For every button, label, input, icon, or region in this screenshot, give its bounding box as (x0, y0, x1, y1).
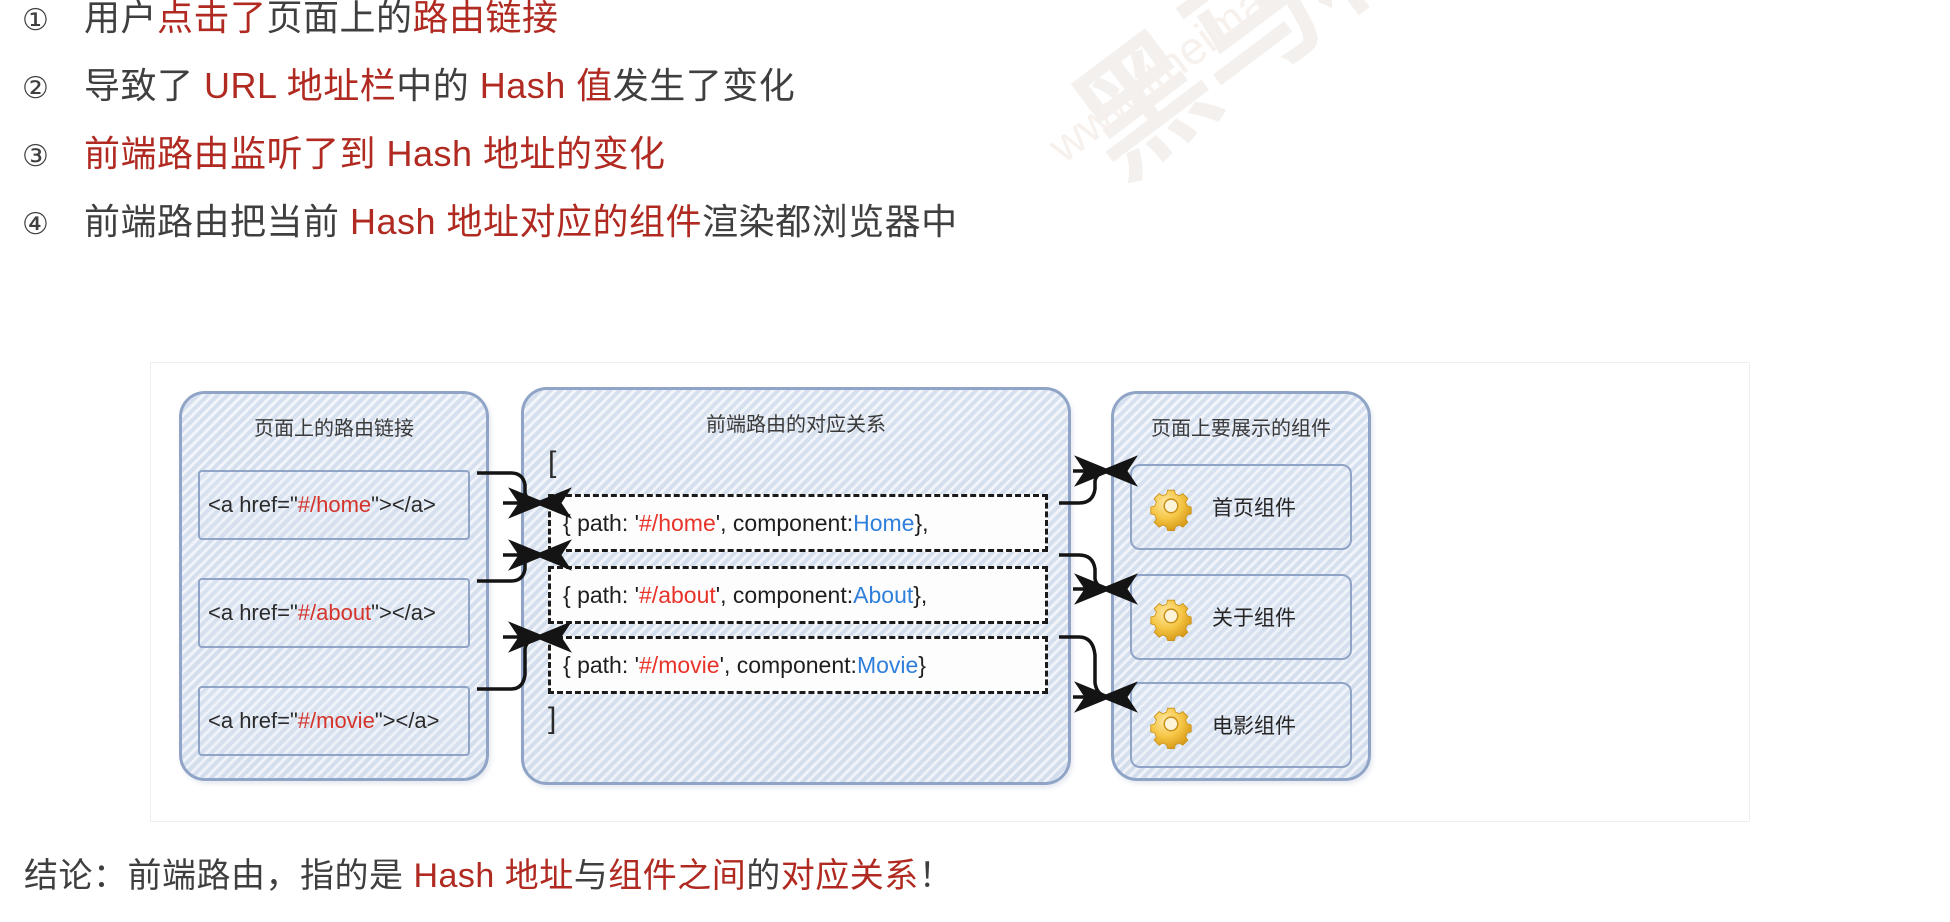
step-segment: 发生了变化 (613, 65, 796, 106)
step-label: 前端路由监听了到 Hash 地址的变化 (84, 136, 666, 172)
step-segment: Hash 值 (480, 65, 613, 106)
panel-route-table: 前端路由的对应关系 [ { path: '#/home', component:… (521, 387, 1071, 785)
route-link-prefix: <a href=" (208, 708, 298, 734)
step-number: ④ (22, 210, 84, 240)
conclusion-text: 结论：前端路由，指的是 Hash 地址与组件之间的对应关系！ (24, 848, 953, 897)
route-mid: ', component: (716, 510, 853, 537)
routing-diagram: 页面上的路由链接 <a href="#/home"></a> <a href="… (150, 362, 1750, 822)
step-segment: 路由链接 (413, 0, 559, 38)
route-link-box-home: <a href="#/home"></a> (198, 470, 470, 540)
step-item: ①用户点击了页面上的路由链接 (0, 0, 1500, 68)
route-open: { path: ' (563, 582, 639, 609)
step-number: ③ (22, 142, 84, 172)
panel-components: 页面上要展示的组件 首页组件 (1111, 391, 1371, 781)
component-label: 电影组件 (1212, 710, 1296, 740)
step-segment: 导致了 (84, 65, 204, 106)
step-segment: 前端路由监听了到 Hash 地址的变化 (84, 133, 666, 174)
panel-route-table-title: 前端路由的对应关系 (524, 408, 1068, 437)
route-entry-about: { path: '#/about', component: About }, (548, 566, 1048, 624)
conclusion-segment: 组件之间 (608, 857, 746, 895)
step-label: 导致了 URL 地址栏中的 Hash 值发生了变化 (84, 68, 795, 104)
step-segment: URL 地址栏 (204, 65, 396, 106)
step-segment: 前端路由把当前 (84, 201, 350, 242)
conclusion-segment: 与 (574, 857, 609, 895)
step-item: ④前端路由把当前 Hash 地址对应的组件渲染都浏览器中 (0, 204, 1500, 272)
step-number: ① (22, 6, 84, 36)
conclusion-segment: Hash 地址 (413, 857, 573, 895)
gear-icon (1142, 476, 1200, 539)
array-close-bracket: ] (548, 702, 556, 736)
route-link-prefix: <a href=" (208, 492, 298, 518)
step-item: ②导致了 URL 地址栏中的 Hash 值发生了变化 (0, 68, 1500, 136)
conclusion-segment: 的 (746, 857, 781, 895)
route-link-suffix: "></a> (371, 492, 436, 518)
component-box-about: 关于组件 (1130, 574, 1352, 660)
step-label: 用户点击了页面上的路由链接 (84, 0, 559, 36)
gear-icon (1142, 694, 1200, 757)
step-segment: 中的 (396, 65, 480, 106)
step-label: 前端路由把当前 Hash 地址对应的组件渲染都浏览器中 (84, 204, 958, 240)
step-segment: 渲染都浏览器中 (702, 201, 958, 242)
step-segment: 点击了 (157, 0, 267, 38)
route-path: #/movie (639, 652, 720, 679)
route-link-hash: #/about (298, 600, 371, 626)
route-close: } (918, 652, 926, 679)
conclusion-segment: ！ (919, 857, 954, 895)
route-link-hash: #/movie (298, 708, 375, 734)
route-open: { path: ' (563, 652, 639, 679)
route-link-box-about: <a href="#/about"></a> (198, 578, 470, 648)
route-link-suffix: "></a> (375, 708, 440, 734)
component-box-movie: 电影组件 (1130, 682, 1352, 768)
route-component: Home (853, 510, 914, 537)
conclusion-segment: 对应关系 (781, 857, 919, 895)
component-box-home: 首页组件 (1130, 464, 1352, 550)
component-label: 首页组件 (1212, 492, 1296, 522)
panel-components-title: 页面上要展示的组件 (1114, 412, 1368, 441)
route-mid: ', component: (720, 652, 857, 679)
route-entry-movie: { path: '#/movie', component: Movie } (548, 636, 1048, 694)
route-component: About (853, 582, 913, 609)
step-segment: Hash 地址对应的组件 (350, 201, 702, 242)
component-label: 关于组件 (1212, 602, 1296, 632)
step-segment: 用户 (84, 0, 157, 38)
route-link-box-movie: <a href="#/movie"></a> (198, 686, 470, 756)
route-link-hash: #/home (298, 492, 371, 518)
route-path: #/about (639, 582, 716, 609)
panel-route-links-title: 页面上的路由链接 (182, 412, 486, 441)
route-path: #/home (639, 510, 716, 537)
step-item: ③前端路由监听了到 Hash 地址的变化 (0, 136, 1500, 204)
route-link-prefix: <a href=" (208, 600, 298, 626)
route-close: }, (913, 582, 927, 609)
step-segment: 页面上的 (267, 0, 413, 38)
step-number: ② (22, 74, 84, 104)
route-entry-home: { path: '#/home', component: Home }, (548, 494, 1048, 552)
route-close: }, (914, 510, 928, 537)
steps-list: ①用户点击了页面上的路由链接②导致了 URL 地址栏中的 Hash 值发生了变化… (0, 0, 1500, 272)
route-open: { path: ' (563, 510, 639, 537)
conclusion-segment: 结论：前端路由，指的是 (24, 857, 413, 895)
array-open-bracket: [ (548, 446, 556, 480)
gear-icon (1142, 586, 1200, 649)
route-link-suffix: "></a> (371, 600, 436, 626)
route-mid: ', component: (716, 582, 853, 609)
panel-route-links: 页面上的路由链接 <a href="#/home"></a> <a href="… (179, 391, 489, 781)
route-component: Movie (857, 652, 918, 679)
